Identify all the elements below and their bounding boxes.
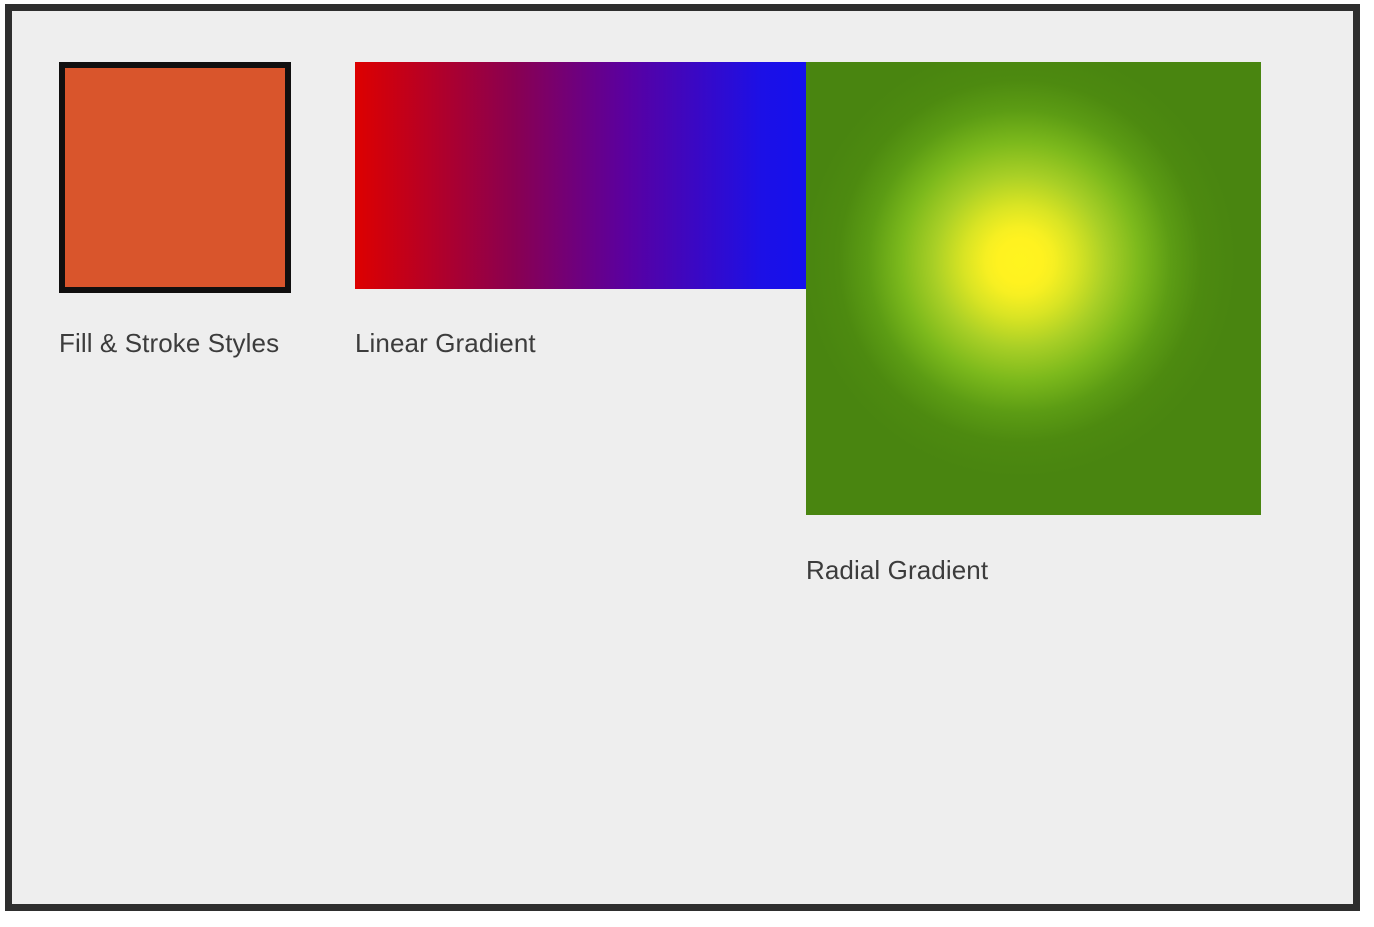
linear-gradient-caption: Linear Gradient [355,328,536,358]
demo-item-radial-gradient: Radial Gradient [806,62,1261,574]
demo-item-linear-gradient: Linear Gradient [355,62,807,347]
radial-gradient-rectangle-swatch [806,62,1261,515]
fill-stroke-rectangle-swatch [59,62,291,293]
canvas-surface[interactable]: Fill & Stroke Styles Linear Gradient Rad… [12,11,1353,904]
app-window-frame: Fill & Stroke Styles Linear Gradient Rad… [5,4,1360,911]
demo-item-fill-stroke: Fill & Stroke Styles [59,62,294,347]
fill-stroke-caption: Fill & Stroke Styles [59,328,279,358]
linear-gradient-rectangle-swatch [355,62,807,289]
radial-gradient-caption: Radial Gradient [806,555,988,585]
